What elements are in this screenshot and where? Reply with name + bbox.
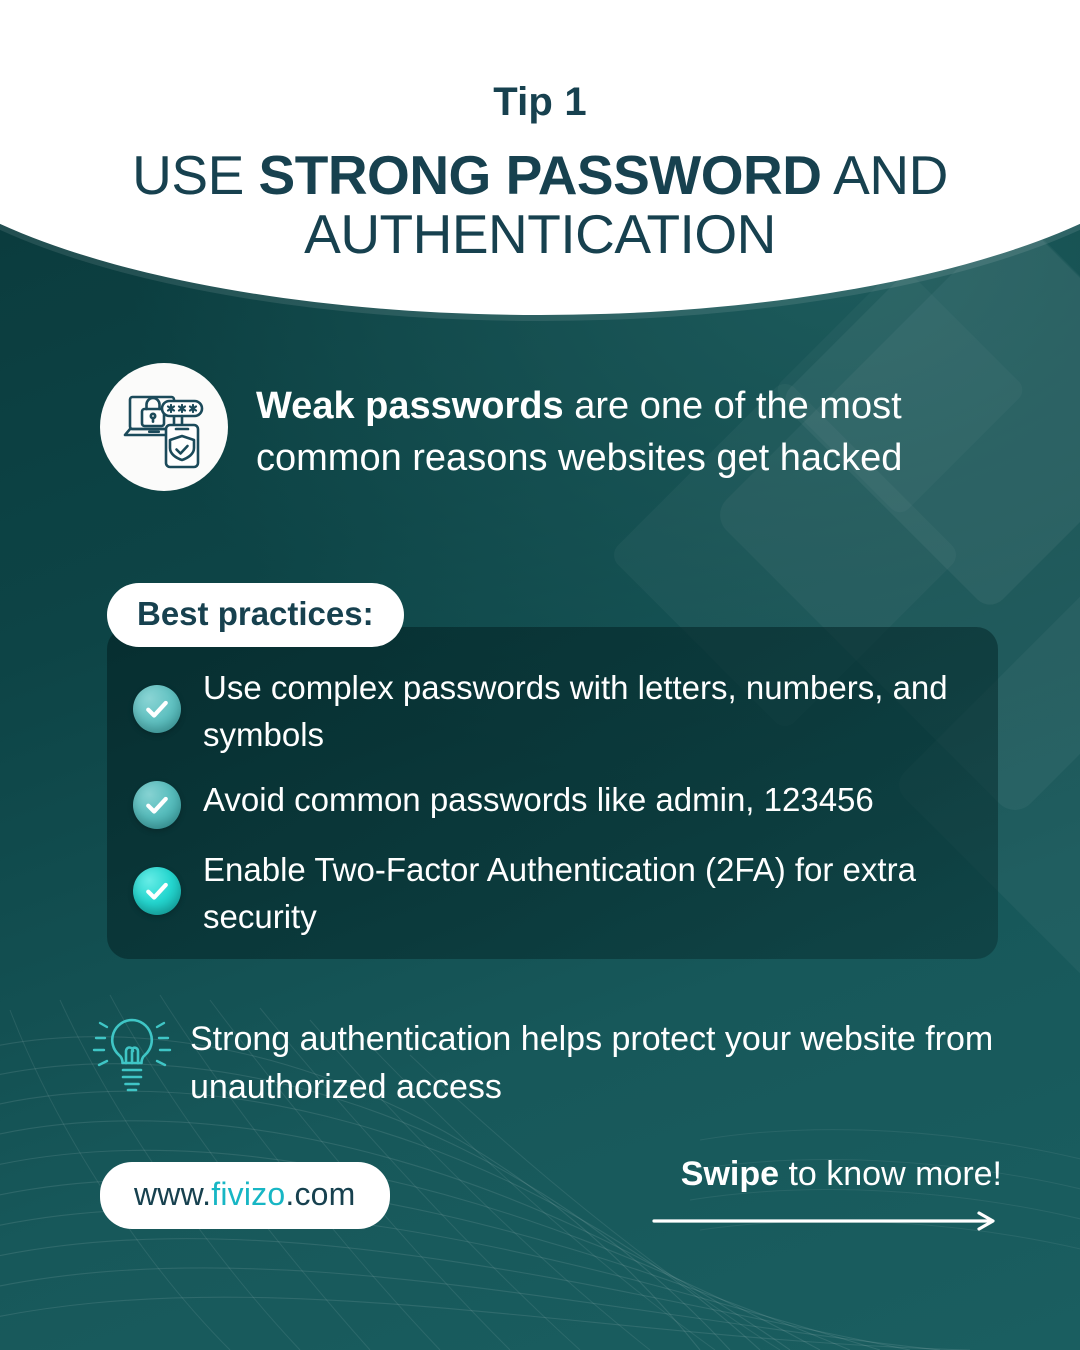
check-circle-icon xyxy=(133,685,181,733)
url-prefix: www. xyxy=(134,1176,211,1212)
headline-strong: STRONG PASSWORD xyxy=(259,144,822,206)
intro-text-strong: Weak passwords xyxy=(256,385,564,427)
check-circle-icon xyxy=(133,781,181,829)
url-suffix: .com xyxy=(285,1176,355,1212)
intro-row: Weak passwords are one of the most commo… xyxy=(100,363,1000,491)
list-item: Enable Two-Factor Authentication (2FA) f… xyxy=(133,851,964,941)
note-text: Strong authentication helps protect your… xyxy=(190,1016,1002,1111)
website-url-pill[interactable]: www.fivizo.com xyxy=(100,1162,390,1229)
swipe-label-strong: Swipe xyxy=(681,1155,779,1193)
url-brand: fivizo xyxy=(211,1176,285,1212)
arrow-right-icon xyxy=(652,1210,1002,1232)
list-item-label: Enable Two-Factor Authentication (2FA) f… xyxy=(203,847,964,941)
list-item-label: Avoid common passwords like admin, 12345… xyxy=(203,777,874,824)
list-item-label: Use complex passwords with letters, numb… xyxy=(203,665,964,759)
lightbulb-icon xyxy=(92,1008,172,1104)
list-item: Avoid common passwords like admin, 12345… xyxy=(133,781,964,829)
header-content: Tip 1 USE STRONG PASSWORD AND AUTHENTICA… xyxy=(0,0,1080,265)
swipe-cta[interactable]: Swipe to know more! xyxy=(652,1155,1002,1237)
headline-part1: USE xyxy=(132,144,258,206)
list-item: Use complex passwords with letters, numb… xyxy=(133,669,964,759)
tip-label: Tip 1 xyxy=(0,82,1080,122)
check-circle-icon xyxy=(133,867,181,915)
swipe-label: Swipe to know more! xyxy=(652,1155,1002,1194)
intro-text: Weak passwords are one of the most commo… xyxy=(256,381,1000,484)
password-security-icon xyxy=(100,363,228,491)
best-practices-card: Use complex passwords with letters, numb… xyxy=(107,627,998,959)
best-practices-pill: Best practices: xyxy=(107,583,404,647)
note-row: Strong authentication helps protect your… xyxy=(92,1008,1002,1111)
swipe-label-rest: to know more! xyxy=(779,1155,1002,1193)
infographic-canvas: Tip 1 USE STRONG PASSWORD AND AUTHENTICA… xyxy=(0,0,1080,1350)
page-title: USE STRONG PASSWORD AND AUTHENTICATION xyxy=(0,146,1080,265)
